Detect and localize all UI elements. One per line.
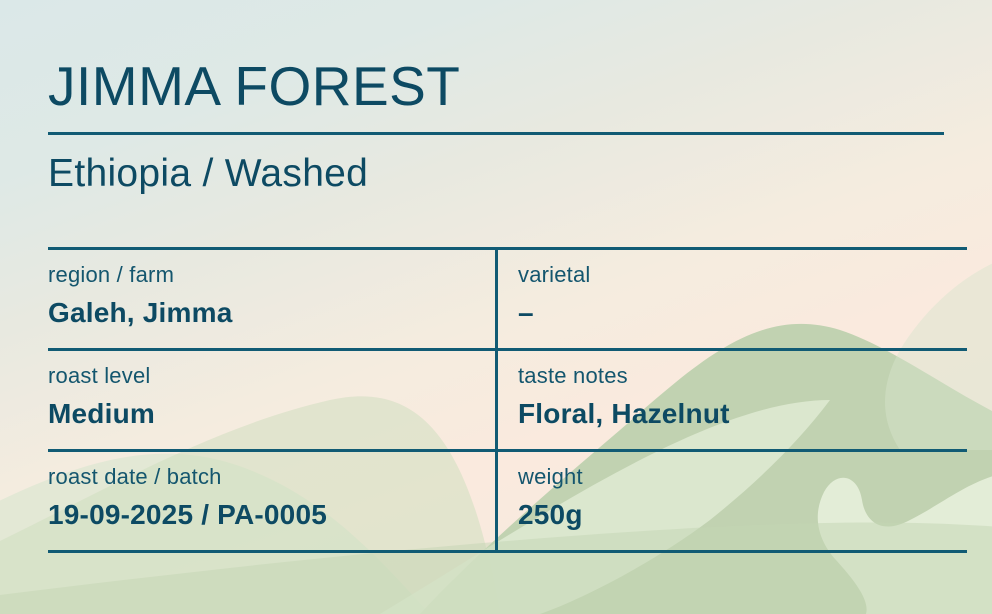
page-title: JIMMA FOREST [48, 0, 944, 116]
spec-cell-varietal: varietal – [497, 248, 968, 349]
label-content: JIMMA FOREST Ethiopia / Washed region / … [0, 0, 992, 553]
spec-cell-region-farm: region / farm Galeh, Jimma [48, 248, 497, 349]
spec-cell-roast-date-batch: roast date / batch 19-09-2025 / PA-0005 [48, 450, 497, 551]
spec-value: 250g [518, 498, 967, 532]
spec-cell-taste-notes: taste notes Floral, Hazelnut [497, 349, 968, 450]
spec-label: weight [518, 464, 967, 490]
specification-table: region / farm Galeh, Jimma varietal – ro… [48, 247, 967, 553]
spec-label: roast date / batch [48, 464, 495, 490]
spec-value: Galeh, Jimma [48, 296, 495, 330]
spec-label: region / farm [48, 262, 495, 288]
spec-label: taste notes [518, 363, 967, 389]
spec-value: Medium [48, 397, 495, 431]
spec-value: Floral, Hazelnut [518, 397, 967, 431]
origin-subtitle: Ethiopia / Washed [48, 135, 944, 196]
spec-cell-weight: weight 250g [497, 450, 968, 551]
spec-label: varietal [518, 262, 967, 288]
spec-value: – [518, 296, 967, 330]
spec-cell-roast-level: roast level Medium [48, 349, 497, 450]
table-row: roast level Medium taste notes Floral, H… [48, 349, 967, 450]
coffee-label-card: JIMMA FOREST Ethiopia / Washed region / … [0, 0, 992, 614]
table-row: region / farm Galeh, Jimma varietal – [48, 248, 967, 349]
table-row: roast date / batch 19-09-2025 / PA-0005 … [48, 450, 967, 551]
spec-value: 19-09-2025 / PA-0005 [48, 498, 495, 532]
spec-label: roast level [48, 363, 495, 389]
